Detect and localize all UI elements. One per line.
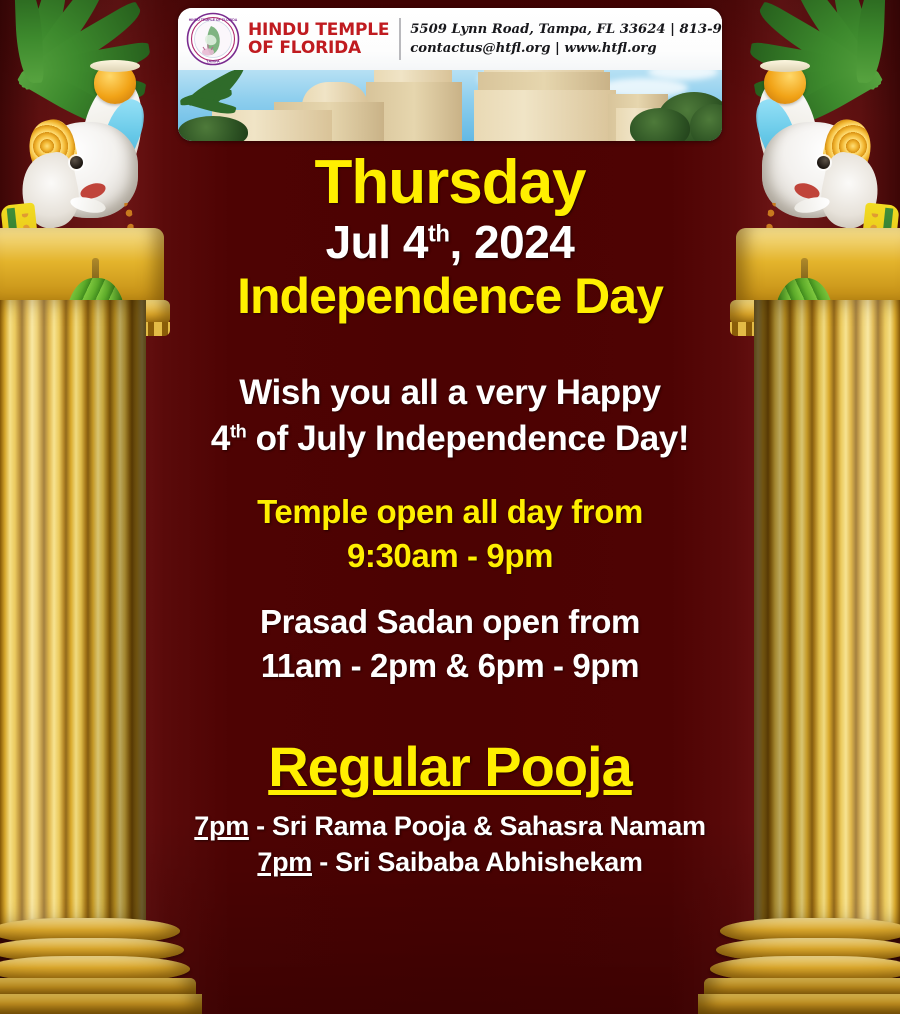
prasad-sadan-label: Prasad Sadan open from <box>150 600 750 644</box>
greeting-line-1: Wish you all a very Happy <box>150 370 750 416</box>
event-date-year: , 2024 <box>450 216 575 268</box>
left-pillar-decoration <box>0 0 172 1014</box>
org-name-line2: OF FLORIDA <box>248 39 389 57</box>
contact-block: 5509 Lynn Road, Tampa, FL 33624 | 813-96… <box>410 20 722 58</box>
event-date-day: Jul 4 <box>326 216 428 268</box>
organization-name: HINDU TEMPLE OF FLORIDA <box>248 21 389 57</box>
svg-text:HINDU TEMPLE OF FLORIDA: HINDU TEMPLE OF FLORIDA <box>189 18 238 22</box>
right-pillar-decoration <box>728 0 900 1014</box>
elephant-eye <box>70 156 83 169</box>
flyer-content: Thursday Jul 4th, 2024 Independence Day … <box>150 150 750 880</box>
pooja-dash: - <box>249 811 272 841</box>
regular-pooja-heading: Regular Pooja <box>150 736 750 798</box>
banner-divider <box>399 18 401 60</box>
contact-address-phone: 5509 Lynn Road, Tampa, FL 33624 | 813-96… <box>410 20 722 39</box>
temple-photograph <box>178 64 722 141</box>
prasad-sadan-time: 11am - 2pm & 6pm - 9pm <box>150 644 750 688</box>
event-flyer: HINDU TEMPLE OF FLORIDA TAMPA HINDU TEMP… <box>0 0 900 1014</box>
pooja-name: Sri Saibaba Abhishekam <box>335 847 643 877</box>
greeting-ordinal-number: 4 <box>211 419 230 458</box>
pooja-name: Sri Rama Pooja & Sahasra Namam <box>272 811 706 841</box>
temple-seal-icon: HINDU TEMPLE OF FLORIDA TAMPA <box>186 12 240 66</box>
temple-hours-label: Temple open all day from <box>150 490 750 534</box>
greeting-ordinal-suffix: th <box>230 421 246 441</box>
org-name-line1: HINDU TEMPLE <box>248 21 389 39</box>
event-occasion: Independence Day <box>150 268 750 324</box>
svg-text:TAMPA: TAMPA <box>206 59 220 64</box>
event-weekday: Thursday <box>150 150 750 216</box>
event-date: Jul 4th, 2024 <box>150 216 750 268</box>
event-date-ordinal: th <box>428 221 450 248</box>
pooja-dash: - <box>312 847 335 877</box>
pooja-time: 7pm <box>194 811 249 841</box>
greeting-rest: of July Independence Day! <box>246 419 689 458</box>
greeting-line-2: 4th of July Independence Day! <box>150 416 750 462</box>
temple-header-banner: HINDU TEMPLE OF FLORIDA TAMPA HINDU TEMP… <box>178 8 722 141</box>
elephant-eye <box>817 156 830 169</box>
banner-header-row: HINDU TEMPLE OF FLORIDA TAMPA HINDU TEMP… <box>178 8 722 70</box>
pooja-time: 7pm <box>257 847 312 877</box>
pooja-item: 7pm - Sri Rama Pooja & Sahasra Namam <box>150 808 750 844</box>
contact-email-website: contactus@htfl.org | www.htfl.org <box>410 39 722 58</box>
temple-hours-time: 9:30am - 9pm <box>150 534 750 578</box>
pooja-item: 7pm - Sri Saibaba Abhishekam <box>150 844 750 880</box>
